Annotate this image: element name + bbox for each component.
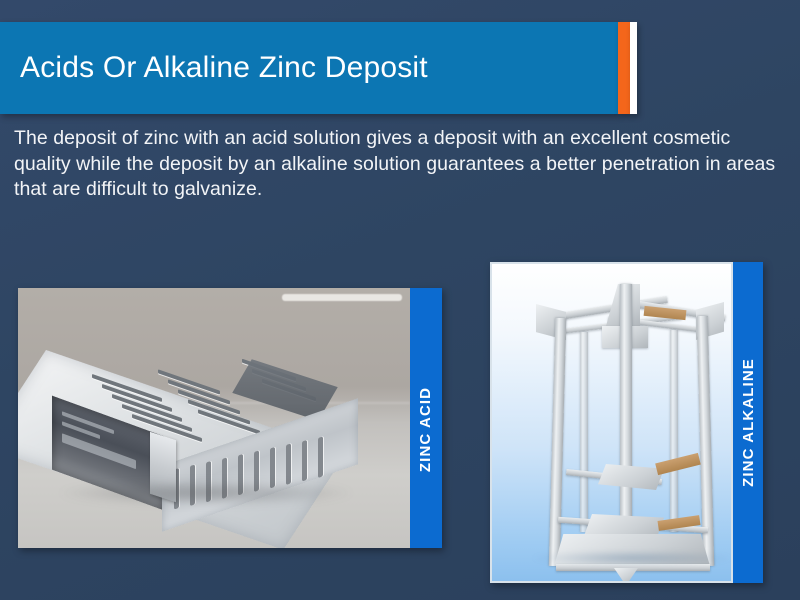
left-post [549,318,566,566]
base-foot [614,568,638,582]
page-title: Acids Or Alkaline Zinc Deposit [0,53,428,83]
wood-batten [655,453,701,475]
side-slot [302,440,307,482]
side-slot [318,436,323,478]
inner-post [580,332,588,532]
photo-zinc-alkaline [490,262,733,583]
side-slot [286,443,291,485]
accent-bar-orange [618,22,630,114]
chassis-shadow [56,480,356,506]
rack-shadow [532,551,732,565]
photo-zinc-acid [18,288,410,548]
rack-photo-scene [492,264,731,581]
background-strip [282,294,402,301]
slide: Acids Or Alkaline Zinc Deposit The depos… [0,0,800,600]
accent-bar-white [630,22,637,114]
steel-rack-frame [510,278,717,569]
title-banner: Acids Or Alkaline Zinc Deposit [0,22,618,114]
figure-zinc-acid: ZINC ACID [18,288,442,548]
mid-shelf-plate [598,464,664,490]
metal-chassis [46,350,376,500]
label-strip-zinc-alkaline: ZINC ALKALINE [733,262,763,583]
figure-label-zinc-acid: ZINC ACID [418,386,435,471]
figure-zinc-alkaline: ZINC ALKALINE [490,262,763,583]
body-paragraph: The deposit of zinc with an acid solutio… [14,126,786,203]
label-strip-zinc-acid: ZINC ACID [410,288,442,548]
chassis-photo-scene [18,288,410,548]
inner-post [670,330,678,532]
figure-label-zinc-alkaline: ZINC ALKALINE [740,358,757,487]
